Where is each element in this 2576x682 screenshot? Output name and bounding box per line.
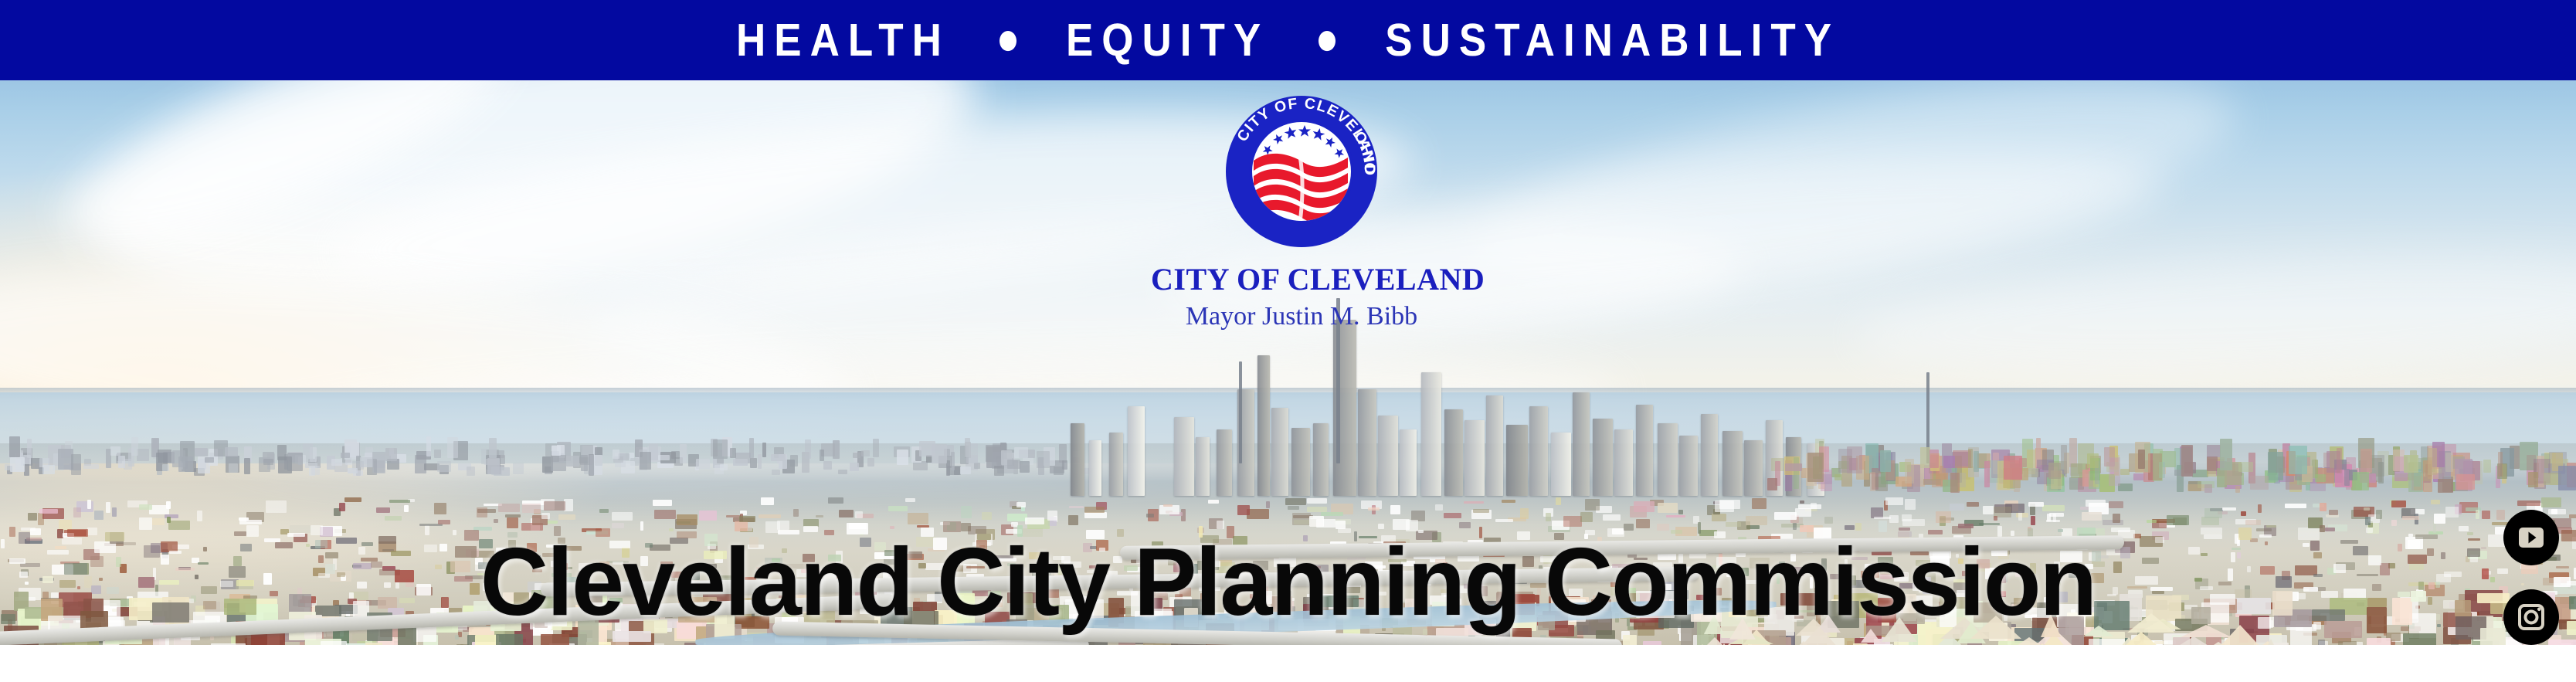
tagline-word-equity: EQUITY bbox=[1040, 17, 1295, 63]
downtown-tower bbox=[1529, 406, 1548, 496]
building-block bbox=[771, 454, 786, 461]
ground-detail bbox=[2042, 505, 2065, 511]
ground-detail bbox=[654, 510, 676, 519]
ground-detail bbox=[1936, 511, 1951, 523]
building-block bbox=[838, 470, 847, 475]
ground-detail bbox=[1084, 507, 1105, 512]
ground-detail bbox=[1634, 501, 1655, 512]
ground-detail bbox=[544, 501, 566, 511]
ground-detail bbox=[494, 519, 498, 523]
tagline-word-sustainability: SUSTAINABILITY bbox=[1359, 17, 1866, 63]
building-block bbox=[1834, 474, 1841, 481]
ground-detail bbox=[197, 511, 202, 521]
ground-detail bbox=[1069, 506, 1084, 508]
ground-detail bbox=[1, 614, 15, 624]
building-block bbox=[1880, 450, 1891, 473]
building-block bbox=[713, 439, 728, 459]
ground-detail bbox=[2082, 512, 2102, 521]
building-block bbox=[960, 467, 970, 474]
building-block bbox=[287, 453, 304, 471]
ground-detail bbox=[507, 517, 518, 528]
ground-detail bbox=[1885, 497, 1903, 504]
building-block bbox=[27, 439, 32, 458]
building-block bbox=[348, 468, 358, 474]
building-block bbox=[720, 464, 728, 470]
bullet-dot-icon-1 bbox=[1000, 30, 1016, 50]
building-block bbox=[162, 464, 169, 470]
ground-detail bbox=[599, 509, 609, 513]
ground-detail bbox=[2391, 500, 2406, 508]
building-block bbox=[1062, 460, 1067, 470]
building-block bbox=[2181, 445, 2193, 477]
building-block bbox=[447, 437, 457, 458]
ground-detail bbox=[425, 525, 429, 535]
downtown-tower bbox=[1679, 436, 1698, 496]
ground-detail bbox=[982, 512, 991, 520]
ground-detail bbox=[816, 515, 823, 517]
ground-detail bbox=[1800, 500, 1804, 504]
building-block bbox=[2138, 450, 2145, 469]
building-block bbox=[225, 447, 238, 456]
building-block bbox=[205, 457, 213, 463]
building-block bbox=[372, 452, 385, 473]
ground-detail bbox=[1368, 507, 1380, 511]
building-block bbox=[2235, 486, 2240, 493]
building-block bbox=[658, 455, 670, 460]
building-block bbox=[613, 450, 619, 459]
ground-detail bbox=[1726, 522, 1741, 527]
foreground-house bbox=[475, 635, 498, 645]
youtube-link[interactable] bbox=[2503, 510, 2559, 565]
ground-detail bbox=[1464, 501, 1483, 504]
building-block bbox=[2483, 460, 2491, 472]
ground-detail bbox=[2147, 520, 2157, 523]
building-block bbox=[2498, 452, 2503, 477]
building-block bbox=[137, 449, 149, 462]
ground-detail bbox=[2561, 530, 2576, 541]
ground-detail bbox=[1459, 522, 1471, 528]
ground-detail bbox=[2167, 515, 2189, 524]
cloud-wisp-icon bbox=[1851, 236, 2576, 395]
ground-detail bbox=[1502, 500, 1515, 503]
bullet-dot-icon-2 bbox=[1319, 30, 1336, 50]
ground-detail bbox=[2222, 507, 2236, 511]
ground-detail bbox=[1390, 505, 1400, 514]
ground-detail bbox=[28, 513, 37, 521]
ground-detail bbox=[2365, 517, 2371, 525]
cloud-wisp-icon bbox=[41, 80, 531, 281]
building-block bbox=[2428, 448, 2437, 475]
ground-detail bbox=[1068, 515, 1078, 524]
city-logo-lockup[interactable]: CITY OF CLEVELAND OHIO CITY OF CLEVELAND… bbox=[1151, 90, 1452, 330]
ground-detail bbox=[339, 503, 345, 511]
ground-detail bbox=[1678, 510, 1683, 514]
building-block bbox=[850, 463, 859, 470]
building-block bbox=[1870, 472, 1875, 491]
downtown-tower bbox=[1593, 419, 1613, 496]
tagline-bar: HEALTH EQUITY SUSTAINABILITY bbox=[0, 0, 2576, 80]
ground-detail bbox=[1266, 501, 1270, 508]
building-block bbox=[2220, 439, 2232, 471]
building-block bbox=[1847, 446, 1862, 473]
ground-detail bbox=[1, 539, 5, 548]
ground-detail bbox=[1435, 504, 1444, 511]
page-title: Cleveland City Planning Commission bbox=[19, 534, 2557, 630]
ground-detail bbox=[1336, 521, 1346, 529]
ground-detail bbox=[612, 523, 623, 528]
ground-detail bbox=[839, 510, 854, 517]
ground-detail bbox=[1016, 502, 1026, 507]
ground-detail bbox=[1546, 513, 1551, 521]
building-block bbox=[71, 454, 81, 475]
ground-detail bbox=[1824, 517, 1833, 524]
building-block bbox=[2153, 449, 2163, 481]
building-block bbox=[5, 464, 9, 470]
downtown-tower bbox=[1174, 417, 1194, 496]
ground-detail bbox=[612, 512, 633, 521]
building-block bbox=[2337, 448, 2342, 473]
ground-detail bbox=[2402, 516, 2419, 520]
building-block bbox=[513, 463, 524, 474]
ground-detail bbox=[961, 506, 972, 518]
building-block bbox=[2087, 453, 2098, 467]
building-block bbox=[277, 445, 287, 461]
ground-detail bbox=[828, 497, 843, 504]
ground-detail bbox=[1288, 506, 1299, 510]
ground-detail bbox=[793, 509, 799, 517]
ground-detail bbox=[855, 511, 864, 518]
downtown-tower bbox=[1722, 431, 1743, 496]
ground-detail bbox=[1163, 504, 1173, 507]
ground-detail bbox=[455, 635, 458, 640]
building-block bbox=[1020, 461, 1030, 473]
downtown-tower bbox=[1701, 414, 1718, 496]
building-block bbox=[717, 459, 724, 463]
ground-detail bbox=[2476, 510, 2479, 518]
ground-detail bbox=[908, 513, 928, 525]
ground-detail bbox=[106, 502, 110, 513]
ground-detail bbox=[1746, 516, 1767, 524]
ground-detail bbox=[676, 521, 691, 524]
downtown-tower bbox=[1217, 429, 1232, 496]
building-block bbox=[2238, 462, 2253, 472]
building-block bbox=[805, 439, 811, 459]
downtown-tower bbox=[1614, 429, 1633, 496]
ground-detail bbox=[1378, 524, 1384, 529]
ground-detail bbox=[1603, 514, 1620, 521]
building-block bbox=[1923, 479, 1941, 485]
ground-detail bbox=[94, 511, 104, 519]
building-block bbox=[680, 444, 687, 463]
ground-detail bbox=[1047, 511, 1057, 520]
cloud-wisp-icon bbox=[1460, 80, 2248, 324]
ground-detail bbox=[2325, 528, 2335, 531]
building-block bbox=[730, 448, 736, 458]
ground-detail bbox=[1719, 500, 1740, 508]
building-block bbox=[772, 470, 780, 475]
ground-detail bbox=[2517, 500, 2540, 506]
downtown-tower bbox=[1196, 437, 1210, 496]
ground-detail bbox=[1666, 515, 1685, 517]
ground-detail bbox=[1967, 502, 1978, 507]
ground-detail bbox=[1905, 499, 1916, 510]
ground-detail bbox=[1712, 514, 1726, 521]
building-block bbox=[2528, 472, 2537, 487]
building-block bbox=[2456, 474, 2474, 490]
building-block bbox=[83, 464, 99, 469]
ground-detail bbox=[2031, 516, 2035, 525]
ground-detail bbox=[2329, 510, 2338, 515]
ground-detail bbox=[558, 514, 575, 520]
building-block bbox=[2360, 449, 2372, 473]
downtown-tower bbox=[1089, 440, 1101, 496]
ground-detail bbox=[2111, 528, 2130, 532]
logo-mayor-name: Mayor Justin M. Bibb bbox=[1151, 304, 1452, 330]
downtown-tower bbox=[1291, 428, 1310, 496]
ground-detail bbox=[1307, 498, 1326, 504]
building-block bbox=[1807, 453, 1824, 482]
building-block bbox=[2204, 484, 2212, 492]
building-block bbox=[919, 441, 935, 456]
ground-detail bbox=[1774, 512, 1796, 519]
ground-detail bbox=[168, 521, 190, 530]
ground-detail bbox=[385, 516, 402, 521]
downtown-tower bbox=[1109, 433, 1123, 496]
building-block bbox=[385, 448, 397, 462]
downtown-tower bbox=[1313, 423, 1329, 496]
downtown-tower bbox=[1506, 425, 1528, 496]
tagline-text: HEALTH EQUITY SUSTAINABILITY bbox=[710, 17, 1866, 63]
building-block bbox=[820, 450, 824, 462]
building-block bbox=[341, 453, 349, 457]
ground-detail bbox=[1556, 497, 1561, 505]
ground-detail bbox=[2364, 507, 2370, 511]
building-block bbox=[437, 461, 451, 472]
ground-detail bbox=[2258, 504, 2262, 513]
building-block bbox=[758, 454, 762, 469]
ground-detail bbox=[1473, 509, 1489, 513]
ground-detail bbox=[2109, 501, 2123, 509]
ground-detail bbox=[759, 514, 781, 518]
ground-detail bbox=[9, 527, 15, 536]
building-block bbox=[1794, 457, 1800, 489]
ground-detail bbox=[1247, 509, 1269, 519]
ground-detail bbox=[2320, 503, 2327, 511]
ground-detail bbox=[2201, 528, 2222, 534]
downtown-tower bbox=[1128, 406, 1145, 496]
downtown-tower bbox=[1464, 420, 1485, 496]
ground-detail bbox=[2241, 511, 2245, 516]
ground-detail bbox=[1874, 517, 1891, 519]
logo-city-name: CITY OF CLEVELAND bbox=[1151, 264, 1452, 295]
ground-detail bbox=[1217, 521, 1224, 529]
building-block bbox=[263, 459, 273, 465]
ground-detail bbox=[2266, 525, 2276, 528]
ground-detail bbox=[438, 520, 450, 524]
building-block bbox=[331, 459, 342, 466]
building-block bbox=[1950, 473, 1960, 493]
building-block bbox=[994, 466, 1005, 475]
building-block bbox=[2187, 484, 2204, 491]
instagram-link[interactable] bbox=[2503, 589, 2559, 645]
ground-detail bbox=[1563, 516, 1582, 527]
ground-detail bbox=[1585, 499, 1600, 511]
ground-detail bbox=[112, 507, 117, 517]
ground-detail bbox=[498, 504, 519, 512]
building-block bbox=[110, 446, 121, 456]
city-of-cleveland-seal-icon: CITY OF CLEVELAND OHIO bbox=[1220, 90, 1383, 253]
ground-detail bbox=[2028, 502, 2044, 507]
building-block bbox=[579, 457, 587, 464]
ground-detail bbox=[39, 509, 57, 514]
building-block bbox=[434, 450, 441, 458]
ground-detail bbox=[434, 503, 446, 514]
ground-detail bbox=[1983, 506, 1994, 514]
ground-detail bbox=[2049, 513, 2063, 517]
building-block bbox=[118, 456, 125, 468]
gravel-pile bbox=[2259, 639, 2283, 645]
building-block bbox=[2109, 457, 2120, 486]
ground-detail bbox=[1994, 516, 1997, 521]
building-block bbox=[671, 451, 680, 459]
building-block bbox=[1984, 461, 1990, 487]
ground-detail bbox=[2204, 508, 2222, 518]
ground-detail bbox=[905, 498, 915, 501]
ground-detail bbox=[376, 507, 390, 513]
foreground-house bbox=[2567, 621, 2576, 635]
instagram-icon bbox=[2514, 600, 2548, 634]
building-block bbox=[1037, 451, 1050, 468]
building-block bbox=[551, 455, 565, 471]
building-block bbox=[9, 436, 20, 457]
ground-detail bbox=[1636, 519, 1650, 528]
ground-detail bbox=[477, 507, 487, 517]
building-block bbox=[552, 446, 560, 456]
tagline-word-health: HEALTH bbox=[710, 17, 976, 63]
building-block bbox=[2048, 463, 2061, 479]
ground-detail bbox=[266, 500, 287, 513]
ground-detail bbox=[1444, 513, 1461, 518]
ground-detail bbox=[73, 507, 81, 517]
ground-detail bbox=[888, 506, 908, 511]
building-block bbox=[733, 459, 748, 466]
ground-detail bbox=[2459, 526, 2469, 531]
ground-detail bbox=[547, 521, 558, 524]
ground-detail bbox=[344, 497, 361, 502]
ground-detail bbox=[458, 632, 461, 638]
ground-detail bbox=[1237, 505, 1250, 515]
ground-detail bbox=[1798, 504, 1821, 509]
ground-detail bbox=[210, 636, 214, 640]
downtown-tower bbox=[1378, 416, 1398, 496]
ground-detail bbox=[1889, 515, 1898, 523]
building-block bbox=[2250, 476, 2269, 490]
ground-detail bbox=[2018, 511, 2022, 521]
building-block bbox=[1943, 456, 1956, 468]
foreground-house bbox=[2367, 638, 2391, 645]
ground-detail bbox=[2366, 528, 2372, 533]
ground-detail bbox=[290, 525, 311, 533]
ground-detail bbox=[2431, 500, 2440, 504]
building-block bbox=[790, 455, 798, 467]
foreground-house bbox=[2403, 633, 2436, 645]
ground-detail bbox=[239, 517, 249, 521]
ground-detail bbox=[1495, 519, 1512, 523]
downtown-tower bbox=[1400, 429, 1417, 496]
downtown-tower bbox=[1658, 423, 1678, 496]
ground-detail bbox=[2318, 640, 2324, 645]
ground-detail bbox=[2391, 520, 2397, 526]
building-block bbox=[10, 457, 25, 473]
building-block bbox=[491, 467, 502, 476]
building-block bbox=[1968, 449, 1973, 469]
downtown-tower bbox=[1573, 392, 1590, 496]
ground-detail bbox=[653, 500, 672, 505]
building-block bbox=[229, 463, 238, 473]
ground-detail bbox=[2113, 514, 2120, 523]
building-block bbox=[897, 450, 908, 466]
building-block bbox=[2353, 472, 2370, 490]
ground-detail bbox=[2445, 507, 2459, 517]
building-block bbox=[2408, 472, 2423, 493]
building-block bbox=[2315, 474, 2326, 481]
building-block bbox=[345, 460, 352, 465]
hero-photo-banner: CITY OF CLEVELAND OHIO CITY OF CLEVELAND… bbox=[0, 80, 2576, 645]
building-block bbox=[867, 458, 874, 466]
building-block bbox=[2378, 462, 2384, 483]
ground-detail bbox=[2541, 497, 2561, 507]
building-block bbox=[853, 453, 860, 458]
downtown-tower bbox=[1744, 440, 1763, 496]
building-block bbox=[1974, 451, 1978, 472]
ground-detail bbox=[1208, 500, 1219, 504]
building-block bbox=[762, 443, 766, 456]
downtown-tower bbox=[1636, 405, 1653, 496]
downtown-tower bbox=[1421, 372, 1441, 496]
ground-detail bbox=[1902, 514, 1911, 521]
building-block bbox=[2289, 446, 2306, 473]
downtown-tower bbox=[1257, 355, 1270, 496]
ground-detail bbox=[1316, 519, 1336, 528]
ground-detail bbox=[1025, 517, 1044, 524]
building-block bbox=[195, 448, 208, 456]
ground-detail bbox=[1752, 498, 1767, 508]
building-block bbox=[2558, 466, 2576, 490]
building-block bbox=[489, 438, 497, 458]
ground-detail bbox=[87, 500, 91, 508]
building-block bbox=[42, 465, 55, 474]
building-block bbox=[1014, 447, 1027, 459]
downtown-tower bbox=[1486, 395, 1503, 496]
building-block bbox=[172, 450, 185, 467]
building-block bbox=[589, 454, 594, 476]
building-block bbox=[1007, 460, 1020, 469]
ground-detail bbox=[699, 511, 718, 521]
ground-detail bbox=[152, 518, 165, 525]
downtown-tower bbox=[1444, 409, 1463, 496]
building-block bbox=[2404, 455, 2418, 473]
building-block bbox=[1785, 463, 1802, 471]
building-block bbox=[750, 458, 758, 467]
foreground-house bbox=[541, 634, 569, 645]
gravel-pile bbox=[2125, 632, 2157, 645]
building-block bbox=[966, 443, 977, 463]
cloud-wisp-icon bbox=[80, 80, 993, 341]
downtown-tower bbox=[1358, 389, 1376, 496]
building-block bbox=[467, 467, 475, 476]
tower-spire bbox=[1239, 361, 1242, 463]
ground-detail bbox=[505, 514, 521, 517]
